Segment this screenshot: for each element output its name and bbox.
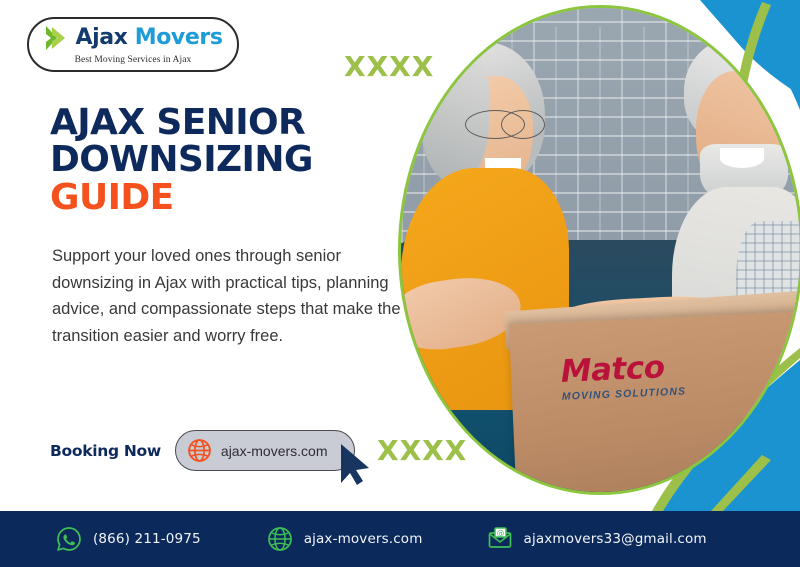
brand-logo-text: Ajax Movers — [75, 27, 222, 49]
svg-text:@: @ — [496, 528, 504, 537]
decorative-x-top: XXXX — [344, 50, 434, 83]
headline-line-3: GUIDE — [50, 179, 313, 216]
website-url-pill[interactable]: ajax-movers.com — [175, 430, 355, 471]
woman-glasses-right — [501, 110, 545, 139]
footer-website[interactable]: ajax-movers.com — [267, 526, 423, 552]
box-brand-name: Matco — [560, 347, 785, 388]
footer-phone-text: (866) 211-0975 — [93, 531, 201, 547]
brand-logo-movers: Movers — [135, 25, 223, 50]
brand-logo-badge[interactable]: Ajax Movers Best Moving Services in Ajax — [27, 17, 239, 72]
website-url-text: ajax-movers.com — [221, 443, 328, 459]
brand-logo-row: Ajax Movers — [43, 24, 222, 52]
hero-photo-scene: Matco MOVING SOLUTIONS — [401, 8, 800, 492]
headline-line-1: AJAX SENIOR — [50, 104, 313, 141]
cardboard-box — [509, 311, 800, 495]
box-brand-logo: Matco MOVING SOLUTIONS — [560, 347, 785, 403]
man-smile — [720, 148, 764, 167]
footer-website-text: ajax-movers.com — [304, 531, 423, 547]
poster-canvas: Matco MOVING SOLUTIONS Ajax Movers Best … — [0, 0, 800, 567]
booking-label: Booking Now — [50, 442, 161, 460]
footer-email[interactable]: @ ajaxmovers33@gmail.com — [487, 526, 707, 552]
brand-tagline: Best Moving Services in Ajax — [75, 55, 192, 65]
headline-line-2: DOWNSIZING — [50, 141, 313, 178]
brand-logo-ajax: Ajax — [75, 25, 127, 50]
page-title: AJAX SENIOR DOWNSIZING GUIDE — [50, 104, 313, 216]
footer-email-text: ajaxmovers33@gmail.com — [524, 531, 707, 547]
booking-cta: Booking Now ajax-movers.com — [50, 430, 355, 471]
globe-icon — [187, 438, 212, 463]
footer-phone[interactable]: (866) 211-0975 — [56, 526, 201, 552]
email-icon: @ — [487, 526, 513, 552]
decorative-x-bottom: XXXX — [377, 434, 467, 467]
whatsapp-icon — [56, 526, 82, 552]
body-paragraph: Support your loved ones through senior d… — [52, 243, 420, 350]
globe-icon — [267, 526, 293, 552]
contact-footer: (866) 211-0975 ajax-movers.com @ ajaxmov… — [0, 511, 800, 567]
green-arrow-chevron-icon — [43, 24, 69, 52]
hero-photo: Matco MOVING SOLUTIONS — [398, 5, 800, 495]
mouse-pointer-icon — [338, 443, 376, 487]
